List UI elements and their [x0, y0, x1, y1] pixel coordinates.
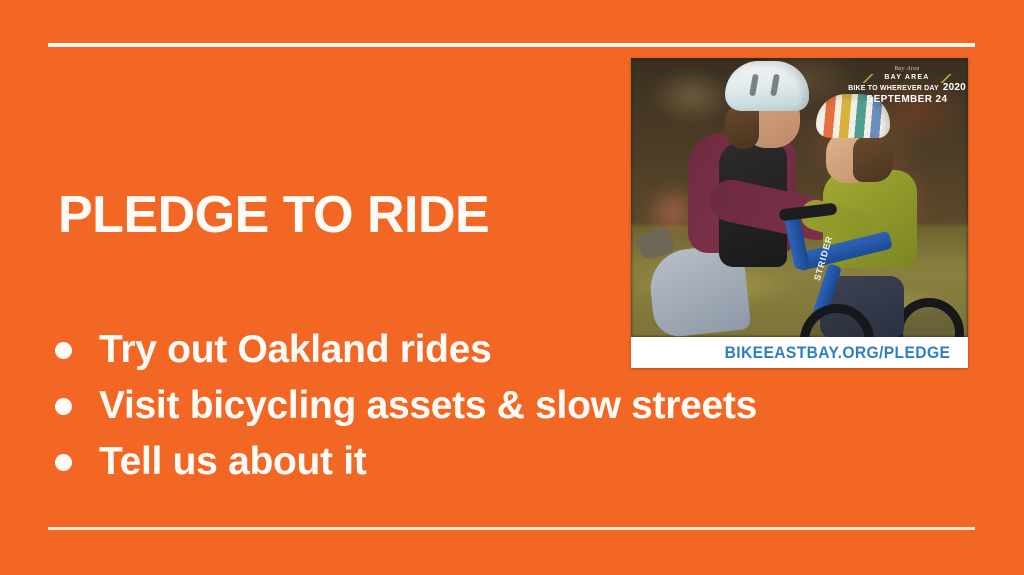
adult-helmet-icon: [725, 61, 809, 111]
bullet-dot-icon: [55, 454, 72, 471]
bullet-text: Visit bicycling assets & slow streets: [99, 384, 757, 428]
bullet-text: Tell us about it: [99, 440, 366, 484]
bullet-text: Try out Oakland rides: [99, 328, 491, 372]
page-title: PLEDGE TO RIDE: [58, 188, 489, 243]
child-hair: [853, 136, 893, 182]
event-logo-script: Bay Area: [854, 66, 960, 72]
list-item: Visit bicycling assets & slow streets: [55, 378, 757, 434]
hills-icon: [854, 74, 960, 83]
event-logo-date: SEPTEMBER 24: [854, 95, 960, 105]
event-logo-year: 2020: [943, 83, 966, 93]
event-logo-region: BAY AREA: [854, 73, 960, 82]
bullet-dot-icon: [55, 398, 72, 415]
event-logo-name: BIKE TO WHEREVER DAY: [848, 85, 939, 92]
photo-image: STRIDER Bay Area BAY AREA BIKE TO WHEREV…: [631, 58, 968, 337]
list-item: Tell us about it: [55, 434, 757, 490]
promo-photo-card: STRIDER Bay Area BAY AREA BIKE TO WHEREV…: [631, 58, 968, 368]
divider-bottom: [48, 527, 975, 530]
divider-top: [48, 43, 975, 47]
photo-caption-band: BIKEEASTBAY.ORG/PLEDGE: [631, 337, 968, 368]
event-logo-title-row: BIKE TO WHEREVER DAY 2020: [854, 83, 960, 93]
pledge-url-link[interactable]: BIKEEASTBAY.ORG/PLEDGE: [724, 343, 950, 363]
event-logo: Bay Area BAY AREA BIKE TO WHEREVER DAY 2…: [854, 66, 960, 105]
bullet-dot-icon: [55, 342, 72, 359]
presentation-slide: PLEDGE TO RIDE Try out Oakland rides Vis…: [0, 0, 1024, 575]
